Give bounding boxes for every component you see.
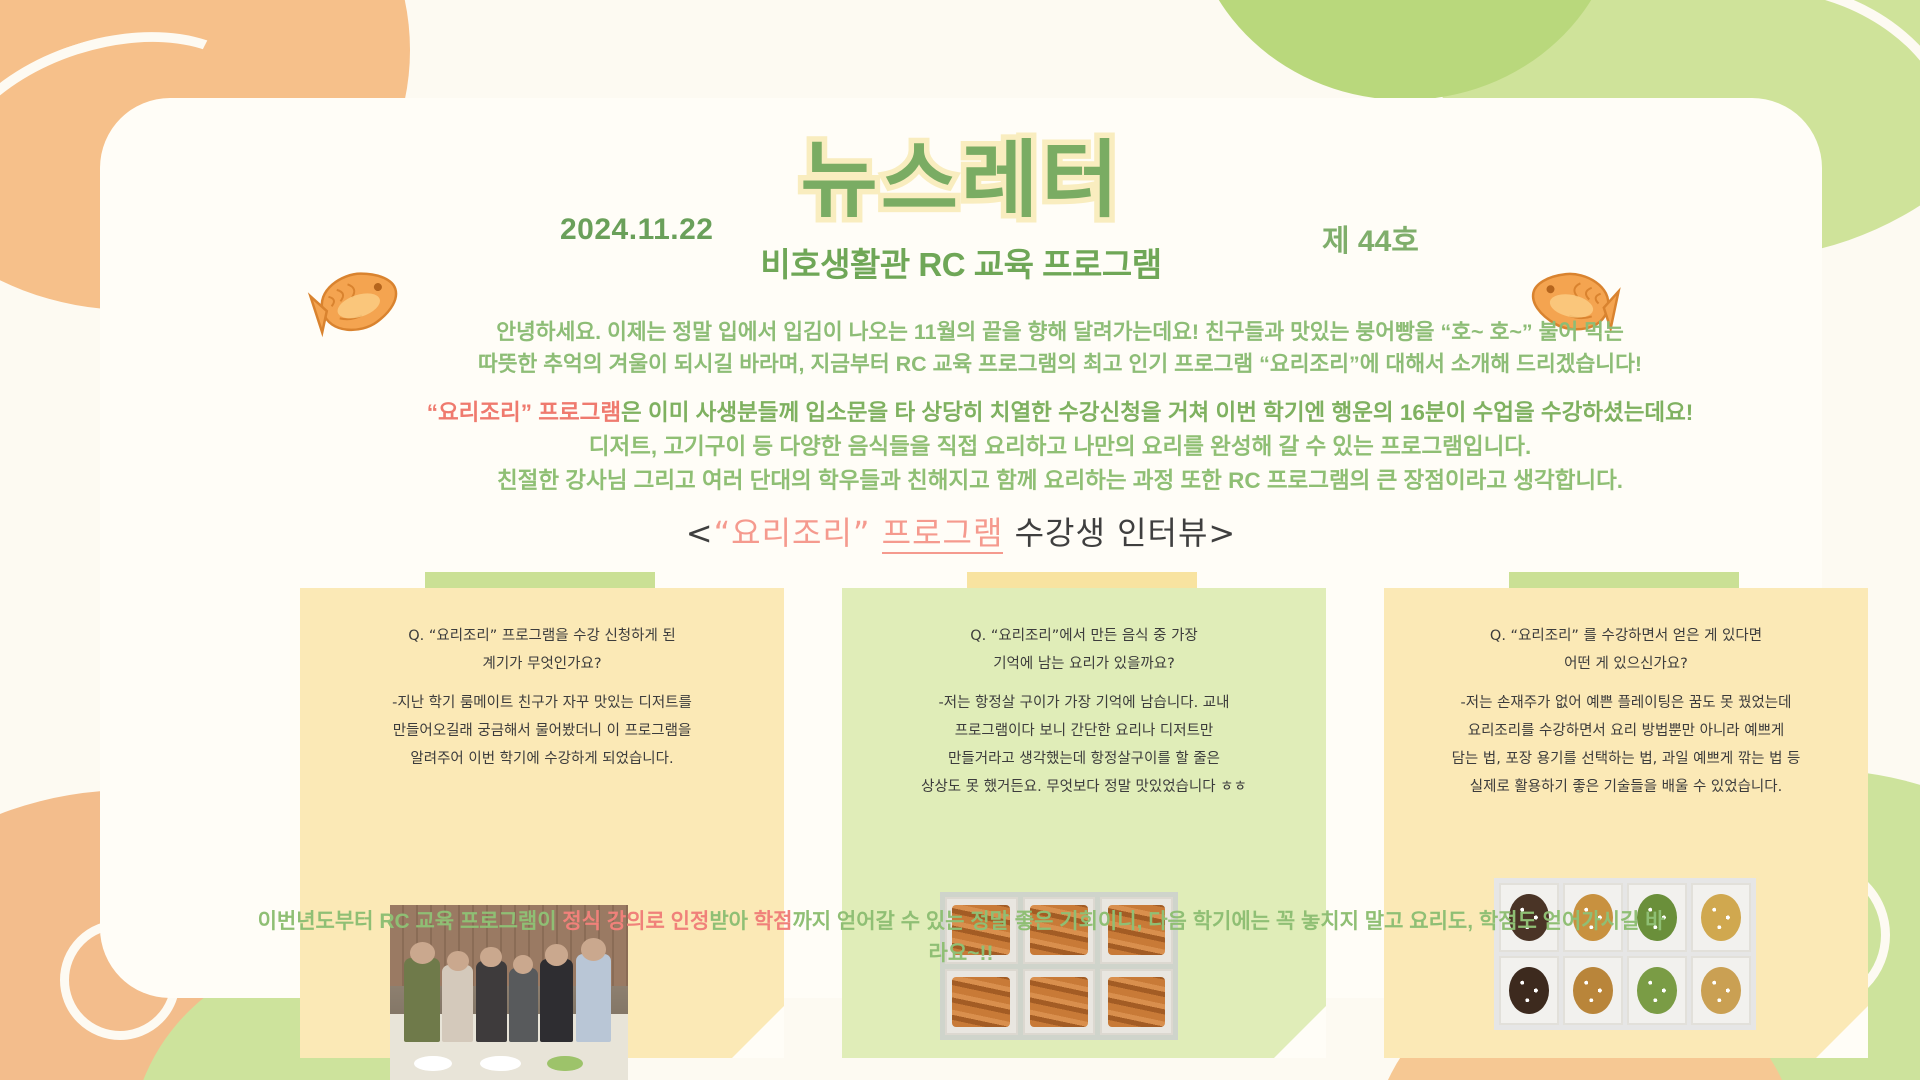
question-text-1: Q. “요리조리” 프로그램을 수강 신청하게 된 계기가 무엇인가요? [326,622,758,679]
footer-part-2: 받아 [709,910,753,933]
question-line: Q. “요리조리” 프로그램을 수강 신청하게 된 [326,622,758,650]
intro-2-line-1: “요리조리” 프로그램은 이미 사생분들께 입소문을 타 상당히 치열한 수강신… [250,396,1870,430]
intro-paragraph-2: “요리조리” 프로그램은 이미 사생분들께 입소문을 타 상당히 치열한 수강신… [250,396,1870,497]
answer-line: -저는 손재주가 없어 예쁜 플레이팅은 꿈도 못 꿨었는데 [1410,689,1842,717]
footer-message: 이번년도부터 RC 교육 프로그램이 정식 강의로 인정받아 학점까지 얻어갈 … [250,906,1672,969]
question-line: Q. “요리조리” 를 수강하면서 얻은 게 있다면 [1410,622,1842,650]
answer-text-3: -저는 손재주가 없어 예쁜 플레이팅은 꿈도 못 꿨었는데 요리조리를 수강하… [1410,689,1842,802]
answer-line: 실제로 활용하기 좋은 기술들을 배울 수 있었습니다. [1410,773,1842,801]
intro-2-line-1-rest: 은 이미 사생분들께 입소문을 타 상당히 치열한 수강신청을 거쳐 이번 학기… [621,400,1693,425]
newsletter-page: 2024.11.22 뉴스레터 제 44호 비호생활관 RC 교육 프로그램 [0,0,1920,1080]
intro-line-2: 따뜻한 추억의 겨울이 되시길 바라며, 지금부터 RC 교육 프로그램의 최고… [250,348,1870,380]
question-line: 어떤 게 있으신가요? [1410,650,1842,678]
page-fold-corner-1 [732,1006,784,1058]
heading-program-word: 프로그램 [882,514,1004,554]
question-line: Q. “요리조리”에서 만든 음식 중 가장 [868,622,1300,650]
newsletter-card: 2024.11.22 뉴스레터 제 44호 비호생활관 RC 교육 프로그램 [100,98,1822,998]
heading-rest: 수강생 인터뷰 [1015,514,1209,552]
heading-program-quoted: “요리조리” [714,514,871,552]
answer-line: 상상도 못 했거든요. 무엇보다 정말 맛있었습니다 ㅎㅎ [868,773,1300,801]
intro-2-line-3: 친절한 강사님 그리고 여러 단대의 학우들과 친해지고 함께 요리하는 과정 … [250,464,1870,498]
answer-line: -지난 학기 룸메이트 친구가 자꾸 맛있는 디저트를 [326,689,758,717]
answer-line: 알려주어 이번 학기에 수강하게 되었습니다. [326,745,758,773]
answer-line: 만들어오길래 궁금해서 물어봤더니 이 프로그램을 [326,717,758,745]
interview-section-heading: <“요리조리” 프로그램 수강생 인터뷰> [100,508,1822,554]
program-name-highlight: “요리조리” 프로그램 [427,400,621,425]
answer-line: 담는 법, 포장 용기를 선택하는 법, 과일 예쁘게 깎는 법 등 [1410,745,1842,773]
question-line: 계기가 무엇인가요? [326,650,758,678]
interview-card-3: Q. “요리조리” 를 수강하면서 얻은 게 있다면 어떤 게 있으신가요? -… [1384,588,1868,1058]
interview-card-1: Q. “요리조리” 프로그램을 수강 신청하게 된 계기가 무엇인가요? -지난… [300,588,784,1058]
footer-part-1: 이번년도부터 RC 교육 프로그램이 [258,910,563,933]
intro-line-1: 안녕하세요. 이제는 정말 입에서 입김이 나오는 11월의 끝을 향해 달려가… [250,316,1870,348]
answer-line: -저는 항정살 구이가 가장 기억에 남습니다. 교내 [868,689,1300,717]
interview-card-2: Q. “요리조리”에서 만든 음식 중 가장 기억에 남는 요리가 있을까요? … [842,588,1326,1058]
intro-2-line-2: 디저트, 고기구이 등 다양한 음식들을 직접 요리하고 나만의 요리를 완성해… [250,430,1870,464]
answer-line: 요리조리를 수강하면서 요리 방법뿐만 아니라 예쁘게 [1410,717,1842,745]
footer-part-3: 까지 얻어갈 수 있는 정말 좋은 기회이니, 다음 학기에는 꼭 놓치지 말고… [792,910,1664,965]
page-title: 뉴스레터 [100,136,1822,224]
footer-highlight-2: 학점 [754,910,793,933]
question-line: 기억에 남는 요리가 있을까요? [868,650,1300,678]
intro-paragraph-1: 안녕하세요. 이제는 정말 입에서 입김이 나오는 11월의 끝을 향해 달려가… [250,316,1870,381]
page-fold-corner-2 [1274,1006,1326,1058]
page-fold-corner-3 [1816,1006,1868,1058]
answer-text-2: -저는 항정살 구이가 가장 기억에 남습니다. 교내 프로그램이다 보니 간단… [868,689,1300,802]
answer-line: 만들거라고 생각했는데 항정살구이를 할 줄은 [868,745,1300,773]
question-text-3: Q. “요리조리” 를 수강하면서 얻은 게 있다면 어떤 게 있으신가요? [1410,622,1842,679]
question-text-2: Q. “요리조리”에서 만든 음식 중 가장 기억에 남는 요리가 있을까요? [868,622,1300,679]
heading-open-bracket: < [686,514,714,552]
heading-close-bracket: > [1208,514,1236,552]
answer-text-1: -지난 학기 룸메이트 친구가 자꾸 맛있는 디저트를 만들어오길래 궁금해서 … [326,689,758,774]
answer-line: 프로그램이다 보니 간단한 요리나 디저트만 [868,717,1300,745]
footer-highlight-1: 정식 강의로 인정 [562,910,709,933]
